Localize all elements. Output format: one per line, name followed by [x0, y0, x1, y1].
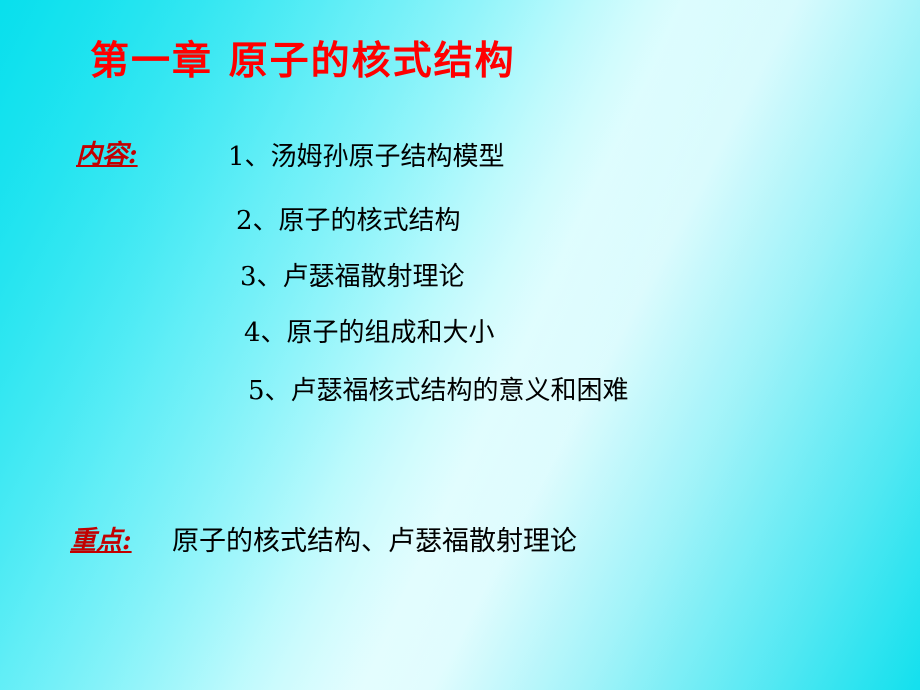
list-item: 3、卢瑟福散射理论: [240, 256, 465, 293]
page-title: 第一章 原子的核式结构: [90, 30, 516, 86]
list-item: 4、原子的组成和大小: [244, 312, 495, 349]
key-points-label: 重点:: [70, 520, 132, 557]
list-item: 1、汤姆孙原子结构模型: [228, 136, 505, 173]
content-section-label: 内容:: [76, 134, 138, 171]
list-item: 5、卢瑟福核式结构的意义和困难: [248, 370, 629, 407]
key-points-text: 原子的核式结构、卢瑟福散射理论: [172, 519, 577, 558]
list-item: 2、原子的核式结构: [236, 200, 461, 237]
slide-canvas: 第一章 原子的核式结构 内容: 1、汤姆孙原子结构模型 2、原子的核式结构 3、…: [0, 0, 920, 690]
